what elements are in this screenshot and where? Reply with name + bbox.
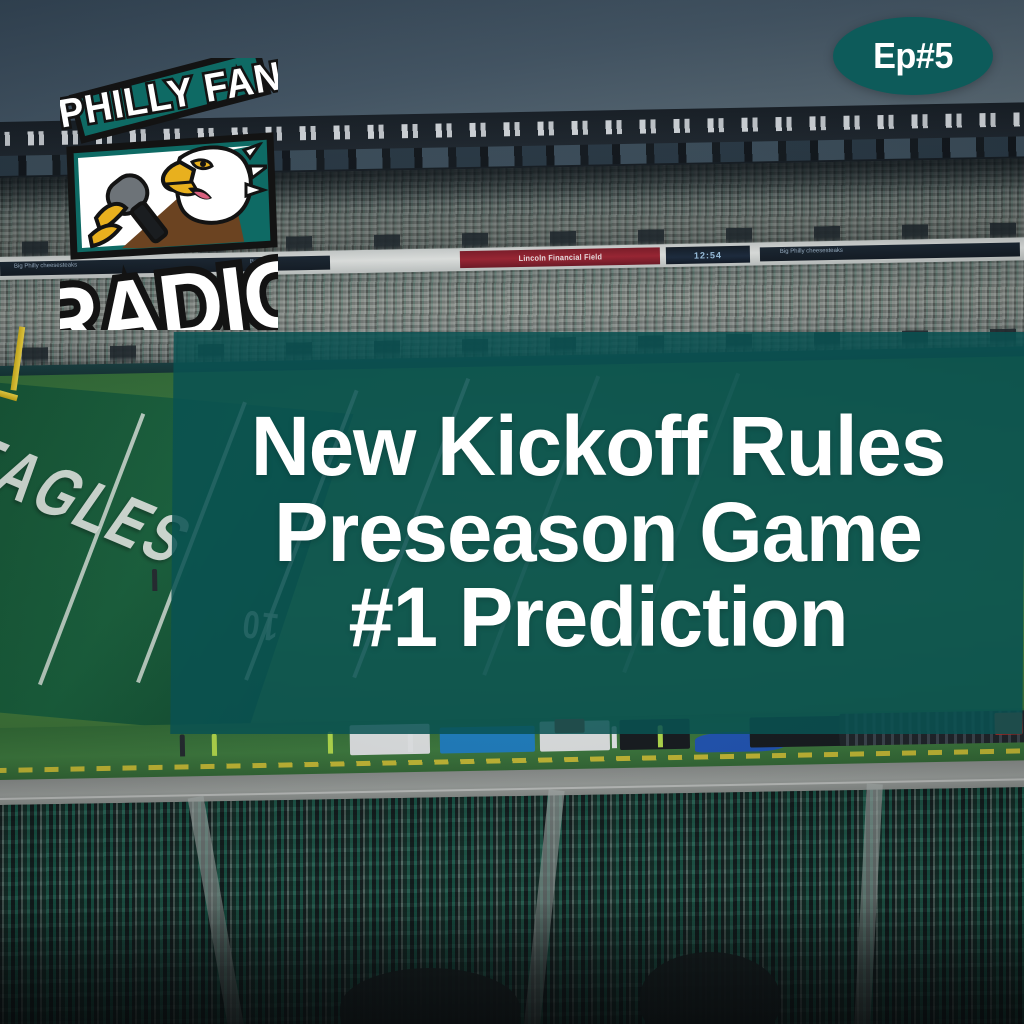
staff-person [328, 732, 333, 754]
bottom-vignette [0, 900, 1024, 1024]
title-line-2: Preseason Game [185, 490, 1011, 576]
staff-person [180, 734, 185, 756]
venue-name-ribbon: Lincoln Financial Field [460, 247, 660, 268]
title-line-1: New Kickoff Rules [185, 404, 1011, 490]
staff-person [212, 734, 217, 756]
title-panel: New Kickoff Rules Preseason Game #1 Pred… [170, 332, 1024, 734]
title-text-block: New Kickoff Rules Preseason Game #1 Pred… [172, 404, 1024, 661]
scoreboard-clock-text: 12:54 [694, 250, 722, 261]
field-personnel [152, 569, 157, 591]
episode-badge-label: Ep#5 [873, 35, 953, 77]
venue-name-text: Lincoln Financial Field [518, 252, 602, 263]
title-line-3: #1 Prediction [185, 576, 1011, 662]
philly-fan-radio-logo: PHILLY FAN RADIO [60, 58, 278, 330]
episode-badge: Ep#5 [833, 17, 993, 95]
scoreboard-clock: 12:54 [666, 246, 750, 265]
podcast-cover-art: Big Philly cheesesteaksBassett Lincoln F… [0, 0, 1024, 1024]
ribbon-ad-right: Big Philly cheesesteaks [760, 242, 1020, 261]
